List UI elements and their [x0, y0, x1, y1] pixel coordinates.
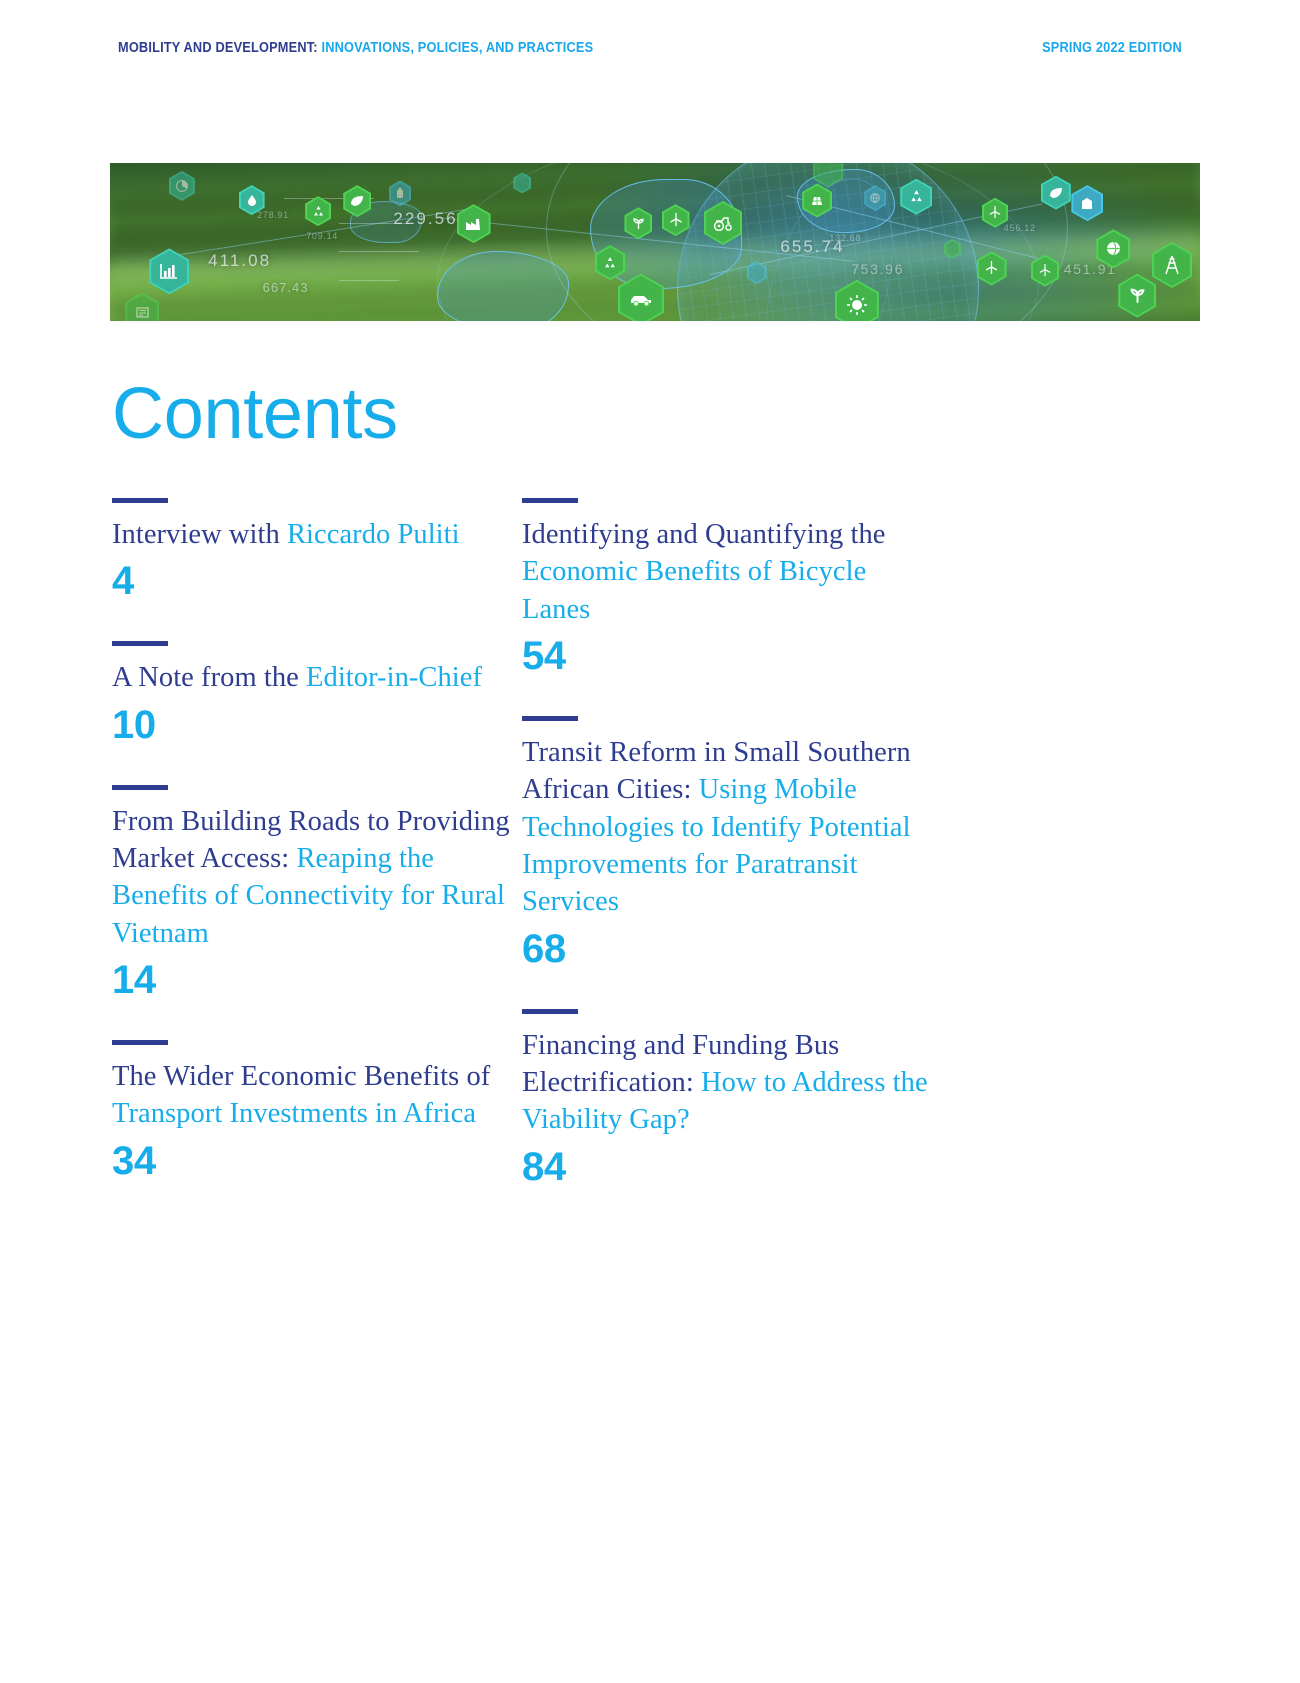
- entry-title: Financing and Funding Bus Electrificatio…: [522, 1027, 932, 1139]
- entry-title-highlight: Economic Benefits of Bicycle Lanes: [522, 556, 866, 624]
- entry-rule: [112, 498, 168, 503]
- entry-rule: [112, 785, 168, 790]
- entry-page-number: 84: [522, 1147, 932, 1187]
- toc-entry[interactable]: A Note from the Editor-in-Chief 10: [112, 641, 522, 744]
- entry-gap: [522, 969, 932, 1009]
- entry-rule: [522, 716, 578, 721]
- entry-page-number: 4: [112, 561, 522, 601]
- entry-page-number: 68: [522, 929, 932, 969]
- toc-entry[interactable]: The Wider Economic Benefits of Transport…: [112, 1040, 522, 1181]
- entry-title: The Wider Economic Benefits of Transport…: [112, 1058, 522, 1133]
- toc-entry[interactable]: Transit Reform in Small Southern African…: [522, 716, 932, 969]
- banner-number: 132.68: [829, 233, 861, 243]
- page-title: Contents: [112, 378, 398, 450]
- table-of-contents: Interview with Riccardo Puliti 4 A Note …: [112, 498, 1112, 1187]
- entry-title-highlight: Editor-in-Chief: [306, 662, 482, 693]
- entry-title: Interview with Riccardo Puliti: [112, 516, 522, 553]
- publication-title: MOBILITY AND DEVELOPMENT:: [118, 40, 318, 56]
- entry-title-main: Identifying and Quantifying the: [522, 519, 885, 550]
- entry-page-number: 10: [112, 705, 522, 745]
- banner-number: 667.43: [263, 280, 309, 295]
- banner-fineprint: [339, 251, 419, 253]
- entry-page-number: 34: [112, 1141, 522, 1181]
- entry-title: Transit Reform in Small Southern African…: [522, 734, 932, 921]
- entry-rule: [522, 498, 578, 503]
- entry-gap: [522, 676, 932, 716]
- entry-title-main: The Wider Economic Benefits of: [112, 1061, 490, 1092]
- running-head-left: MOBILITY AND DEVELOPMENT: INNOVATIONS, P…: [118, 40, 593, 56]
- entry-gap: [112, 601, 522, 641]
- toc-entry[interactable]: Identifying and Quantifying the Economic…: [522, 498, 932, 676]
- entry-rule: [112, 1040, 168, 1045]
- publication-subtitle: INNOVATIONS, POLICIES, AND PRACTICES: [321, 40, 593, 56]
- entry-title-main: Interview with: [112, 519, 287, 550]
- banner-number: 456.12: [1004, 223, 1036, 233]
- banner-image: 411.08 667.43 229.56 655.74 753.96 451.9…: [110, 163, 1200, 321]
- entry-page-number: 54: [522, 636, 932, 676]
- entry-title-highlight: Riccardo Puliti: [287, 519, 460, 550]
- entry-gap: [112, 745, 522, 785]
- entry-rule: [112, 641, 168, 646]
- entry-title-main: A Note from the: [112, 662, 306, 693]
- toc-entry[interactable]: Financing and Funding Bus Electrificatio…: [522, 1009, 932, 1187]
- entry-title: Identifying and Quantifying the Economic…: [522, 516, 932, 628]
- entry-rule: [522, 1009, 578, 1014]
- toc-column-right: Identifying and Quantifying the Economic…: [522, 498, 932, 1187]
- banner-number: 753.96: [851, 261, 904, 277]
- entry-title: From Building Roads to Providing Market …: [112, 803, 522, 952]
- edition-label: SPRING 2022 EDITION: [1042, 40, 1182, 56]
- banner-number: 411.08: [208, 251, 271, 271]
- entry-title: A Note from the Editor-in-Chief: [112, 659, 522, 696]
- toc-column-left: Interview with Riccardo Puliti 4 A Note …: [112, 498, 522, 1187]
- toc-entry[interactable]: From Building Roads to Providing Market …: [112, 785, 522, 1000]
- banner-number: 709.14: [306, 231, 338, 241]
- entry-gap: [112, 1000, 522, 1040]
- entry-page-number: 14: [112, 960, 522, 1000]
- toc-entry[interactable]: Interview with Riccardo Puliti 4: [112, 498, 522, 601]
- banner-number: 278.91: [257, 210, 289, 220]
- entry-title-highlight: Transport Investments in Africa: [112, 1098, 476, 1129]
- banner-fineprint: [339, 280, 399, 282]
- banner-number: 229.56: [393, 209, 457, 229]
- running-head: MOBILITY AND DEVELOPMENT: INNOVATIONS, P…: [118, 40, 1182, 56]
